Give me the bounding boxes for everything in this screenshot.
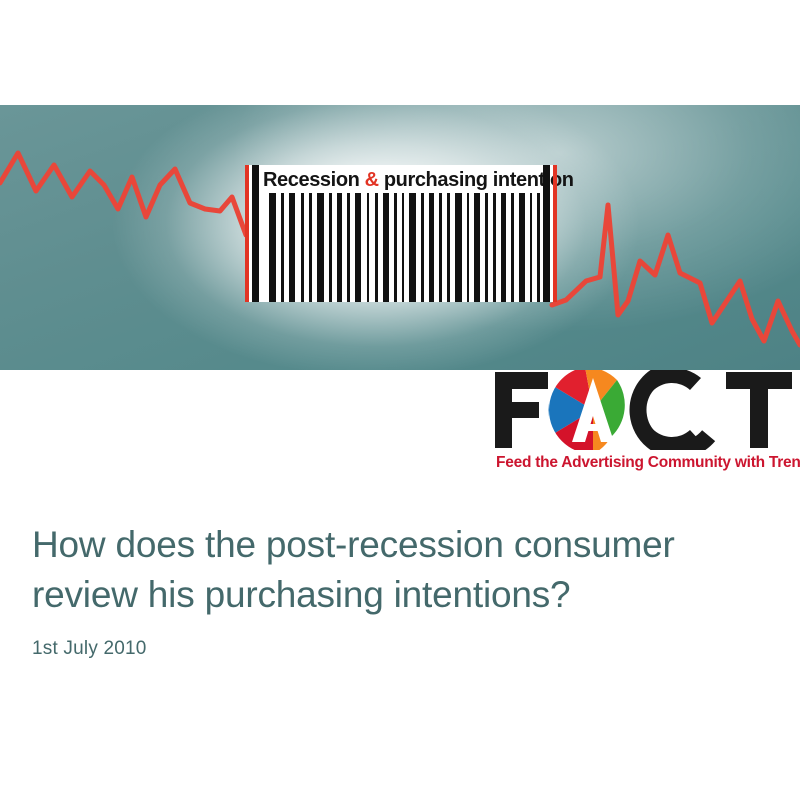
- logo-letter-t: [726, 372, 792, 448]
- barcode-inner-panel: Recession & purchasing intention: [245, 165, 557, 302]
- fact-wordmark: [493, 370, 793, 450]
- logo-letter-f: [495, 372, 548, 448]
- barcode-guard-bar-left: [252, 165, 259, 302]
- logo-letter-a-emblem: [549, 370, 637, 450]
- fact-logo-tagline: Feed the Advertising Community with Tren…: [496, 454, 793, 472]
- barcode-graphic: Recession & purchasing intention: [245, 165, 557, 302]
- barcode-title-part1: Recession: [263, 169, 365, 191]
- fact-logo: Feed the Advertising Community with Tren…: [493, 370, 793, 480]
- presentation-date: 1st July 2010: [32, 638, 762, 660]
- barcode-bar-stripes: [263, 193, 543, 302]
- barcode-title-ampersand: &: [365, 169, 379, 191]
- title-block: How does the post-recession consumer rev…: [32, 520, 762, 660]
- hero-banner: Recession & purchasing intention: [0, 105, 800, 370]
- trend-line-right: [552, 205, 800, 345]
- barcode-title-text: Recession & purchasing intention: [263, 167, 574, 193]
- logo-letter-c: [622, 370, 735, 450]
- barcode-red-edge-right: [553, 165, 557, 302]
- barcode-red-edge-left: [245, 165, 249, 302]
- barcode-guard-bar-right: [543, 165, 550, 302]
- trend-line-left: [0, 153, 246, 235]
- page-title: How does the post-recession consumer rev…: [32, 520, 762, 620]
